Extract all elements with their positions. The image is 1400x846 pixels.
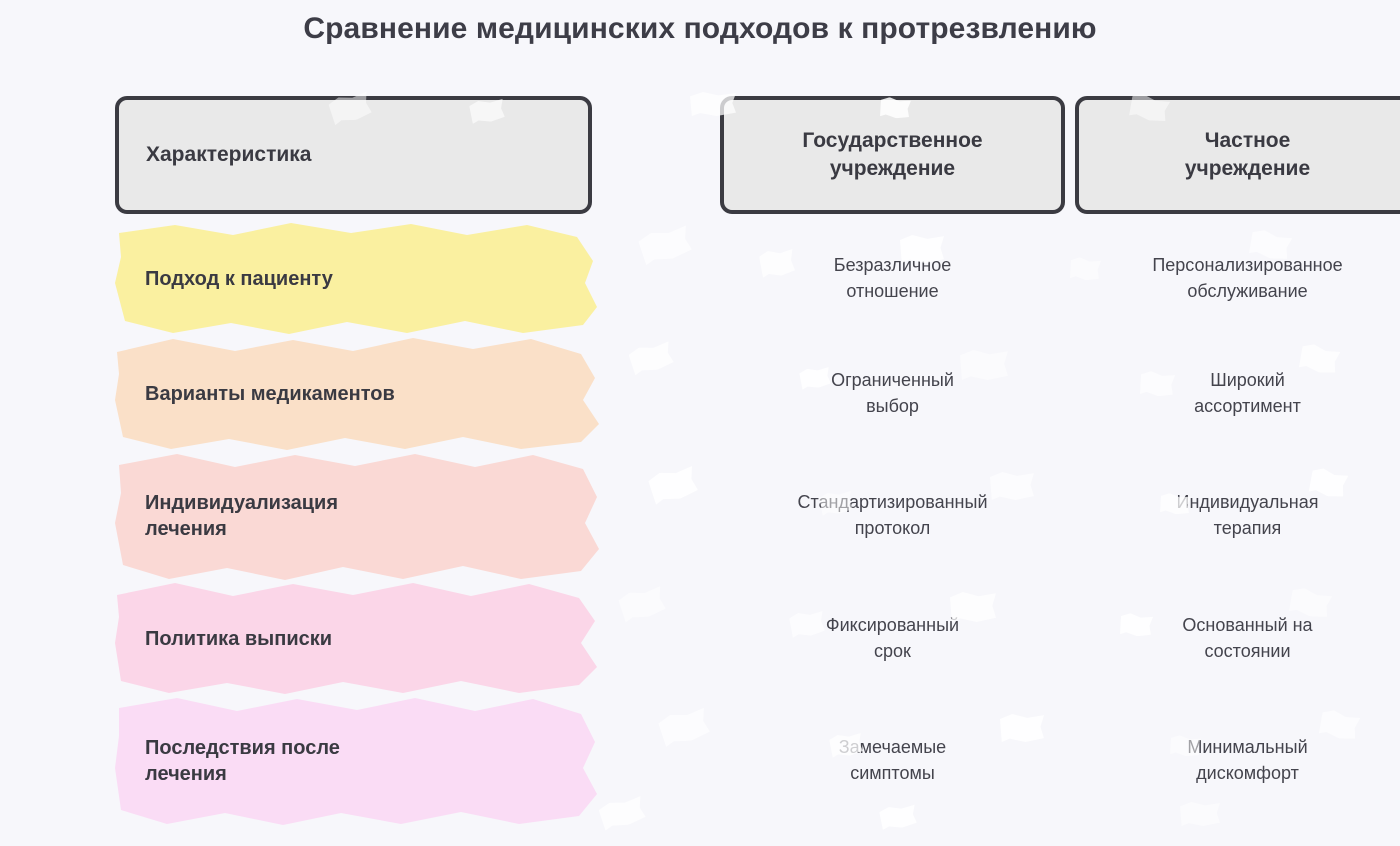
feature-label: Политика выписки	[115, 581, 545, 696]
public-value-text: Безразличное отношение	[834, 253, 951, 304]
header-private-label: Частное учреждение	[1185, 127, 1310, 182]
table-row: Последствия после лечения Замечаемые сим…	[0, 696, 1400, 826]
feature-text: Последствия после лечения	[145, 735, 340, 787]
header-feature-label: Характеристика	[146, 141, 311, 169]
comparison-table: Характеристика Государственное учреждени…	[0, 96, 1400, 826]
private-line2: терапия	[1214, 518, 1282, 538]
feature-label: Варианты медикаментов	[115, 336, 545, 451]
private-line2: дискомфорт	[1196, 763, 1299, 783]
table-row: Индивидуализация лечения Стандартизирова…	[0, 451, 1400, 581]
value-cell-public: Стандартизированный протокол	[715, 451, 1070, 581]
feature-label: Индивидуализация лечения	[115, 451, 545, 581]
value-cell-public: Безразличное отношение	[715, 221, 1070, 336]
row-gutter	[0, 696, 115, 826]
private-line2: состоянии	[1204, 641, 1290, 661]
value-cell-public: Замечаемые симптомы	[715, 696, 1070, 826]
public-value-text: Стандартизированный протокол	[798, 490, 988, 541]
public-value: Стандартизированный протокол	[715, 451, 1070, 581]
feature-cell: Варианты медикаментов	[115, 336, 715, 451]
header-cell-feature: Характеристика	[115, 96, 592, 214]
value-cell-public: Ограниченный выбор	[715, 336, 1070, 451]
table-row: Подход к пациенту Безразличное отношение…	[0, 221, 1400, 336]
value-cell-private: Широкий ассортимент	[1070, 336, 1400, 451]
private-value: Минимальный дискомфорт	[1070, 696, 1400, 826]
private-line1: Основанный на	[1182, 615, 1312, 635]
private-value-text: Широкий ассортимент	[1194, 368, 1301, 419]
public-value-text: Ограниченный выбор	[831, 368, 954, 419]
private-line1: Широкий	[1210, 370, 1285, 390]
feature-text: Подход к пациенту	[145, 266, 333, 292]
public-line2: протокол	[855, 518, 931, 538]
private-line1: Индивидуальная	[1177, 492, 1319, 512]
public-line1: Ограниченный	[831, 370, 954, 390]
private-line2: ассортимент	[1194, 396, 1301, 416]
header-cell-private: Частное учреждение	[1075, 96, 1400, 214]
public-value: Замечаемые симптомы	[715, 696, 1070, 826]
value-cell-private: Персонализированное обслуживание	[1070, 221, 1400, 336]
feature-line1: Политика выписки	[145, 628, 332, 650]
header-cell-private-wrap: Частное учреждение	[1070, 96, 1400, 216]
private-line1: Персонализированное	[1152, 255, 1342, 275]
feature-cell: Подход к пациенту	[115, 221, 715, 336]
public-value-text: Фиксированный срок	[826, 613, 959, 664]
header-public-label: Государственное учреждение	[802, 127, 982, 182]
table-row: Варианты медикаментов Ограниченный выбор…	[0, 336, 1400, 451]
private-value-text: Персонализированное обслуживание	[1152, 253, 1342, 304]
left-gutter	[0, 96, 115, 216]
private-value-text: Минимальный дискомфорт	[1187, 735, 1307, 786]
feature-cell: Последствия после лечения	[115, 696, 715, 826]
public-line2: симптомы	[850, 763, 935, 783]
feature-cell: Политика выписки	[115, 581, 715, 696]
header-public-line1: Государственное	[802, 129, 982, 152]
table-header-row: Характеристика Государственное учреждени…	[0, 96, 1400, 216]
table-row: Политика выписки Фиксированный срок Осно…	[0, 581, 1400, 696]
feature-line1: Последствия после	[145, 737, 340, 759]
public-value-text: Замечаемые симптомы	[839, 735, 946, 786]
private-value-text: Индивидуальная терапия	[1177, 490, 1319, 541]
feature-line2: лечения	[145, 518, 227, 540]
value-cell-private: Минимальный дискомфорт	[1070, 696, 1400, 826]
public-line1: Безразличное	[834, 255, 951, 275]
public-line2: отношение	[846, 281, 938, 301]
private-value-text: Основанный на состоянии	[1182, 613, 1312, 664]
row-gutter	[0, 336, 115, 451]
feature-text: Варианты медикаментов	[145, 381, 395, 407]
feature-line1: Подход к пациенту	[145, 268, 333, 290]
feature-label: Подход к пациенту	[115, 221, 545, 336]
feature-label: Последствия после лечения	[115, 696, 545, 826]
private-value: Основанный на состоянии	[1070, 581, 1400, 696]
feature-line1: Варианты медикаментов	[145, 383, 395, 405]
feature-line2: лечения	[145, 763, 227, 785]
private-value: Персонализированное обслуживание	[1070, 221, 1400, 336]
public-value: Безразличное отношение	[715, 221, 1070, 336]
header-cell-feature-wrap: Характеристика	[115, 96, 715, 216]
public-value: Фиксированный срок	[715, 581, 1070, 696]
public-line2: срок	[874, 641, 911, 661]
row-gutter	[0, 221, 115, 336]
row-gutter	[0, 451, 115, 581]
header-private-line2: учреждение	[1185, 157, 1310, 180]
feature-text: Политика выписки	[145, 626, 332, 652]
page-title: Сравнение медицинских подходов к протрез…	[0, 12, 1400, 46]
private-line1: Минимальный	[1187, 737, 1307, 757]
public-line1: Фиксированный	[826, 615, 959, 635]
private-value: Широкий ассортимент	[1070, 336, 1400, 451]
private-value: Индивидуальная терапия	[1070, 451, 1400, 581]
public-value: Ограниченный выбор	[715, 336, 1070, 451]
value-cell-public: Фиксированный срок	[715, 581, 1070, 696]
feature-cell: Индивидуализация лечения	[115, 451, 715, 581]
header-private-line1: Частное	[1205, 129, 1291, 152]
header-cell-public-wrap: Государственное учреждение	[715, 96, 1070, 216]
value-cell-private: Основанный на состоянии	[1070, 581, 1400, 696]
header-public-line2: учреждение	[830, 157, 955, 180]
private-line2: обслуживание	[1187, 281, 1307, 301]
feature-text: Индивидуализация лечения	[145, 490, 338, 542]
public-line1: Стандартизированный	[798, 492, 988, 512]
feature-line1: Индивидуализация	[145, 492, 338, 514]
value-cell-private: Индивидуальная терапия	[1070, 451, 1400, 581]
row-gutter	[0, 581, 115, 696]
public-line2: выбор	[866, 396, 919, 416]
header-cell-public: Государственное учреждение	[720, 96, 1065, 214]
public-line1: Замечаемые	[839, 737, 946, 757]
